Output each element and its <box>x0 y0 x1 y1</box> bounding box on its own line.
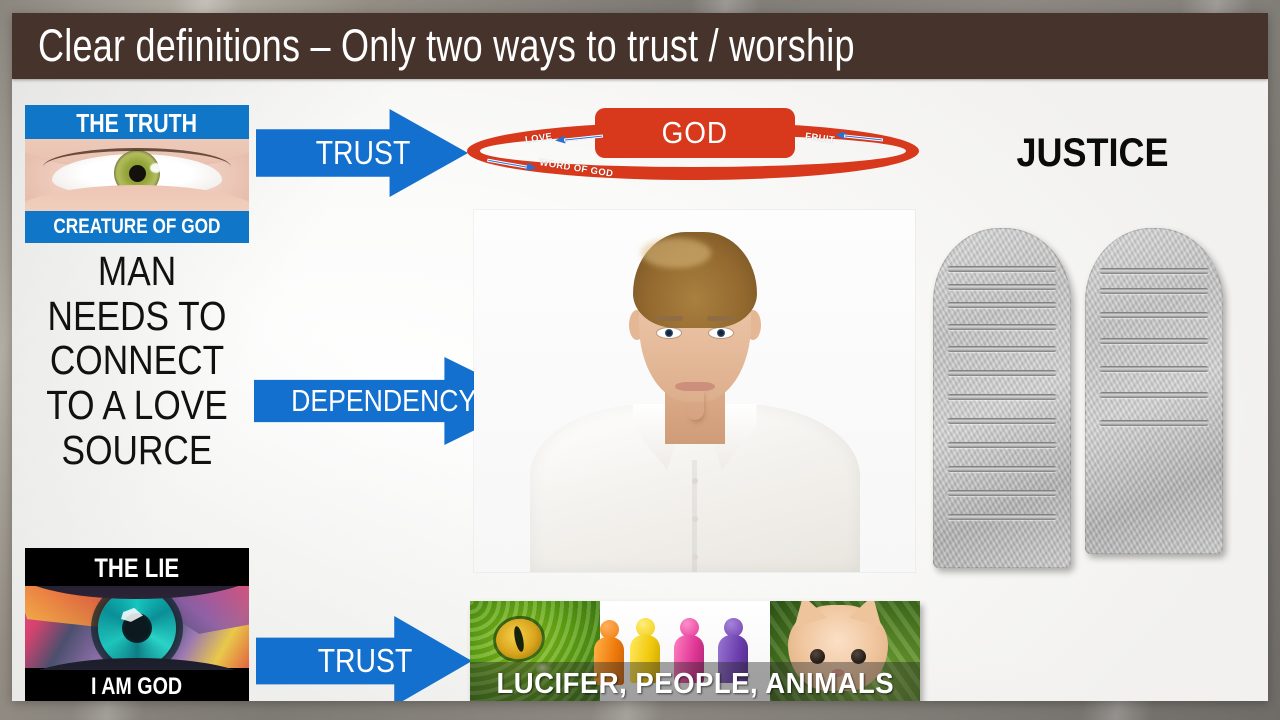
justice-label: JUSTICE <box>1016 131 1168 176</box>
slogan-line: CONNECT <box>41 338 234 383</box>
truth-top-band: THE TRUTH <box>25 105 249 141</box>
strip-caption: LUCIFER, PEOPLE, ANIMALS <box>470 662 920 701</box>
lie-bottom-label: I AM GOD <box>91 673 182 701</box>
slogan-text: MAN NEEDS TO CONNECT TO A LOVE SOURCE <box>25 249 249 472</box>
trust-arrow-bottom-label: TRUST <box>318 642 413 680</box>
slide-canvas: Clear definitions – Only two ways to tru… <box>12 13 1268 701</box>
slide-title: Clear definitions – Only two ways to tru… <box>38 20 855 72</box>
tablet-left <box>933 228 1071 568</box>
god-cycle-diagram: LOVE FRUIT WORD OF GOD GOD <box>467 108 927 188</box>
stone-tablets-image <box>933 228 1233 573</box>
truth-bottom-label: CREATURE OF GOD <box>53 215 220 239</box>
dependency-arrow-label: DEPENDENCY <box>291 383 476 419</box>
title-bar: Clear definitions – Only two ways to tru… <box>12 13 1268 79</box>
trust-arrow-top-label: TRUST <box>316 134 411 172</box>
strip-caption-label: LUCIFER, PEOPLE, ANIMALS <box>496 668 894 701</box>
god-box: GOD <box>595 108 795 158</box>
slogan-line: SOURCE <box>41 428 234 473</box>
slide-stage: Clear definitions – Only two ways to tru… <box>0 0 1280 720</box>
god-label: GOD <box>662 115 728 151</box>
lie-bottom-band: I AM GOD <box>25 668 249 701</box>
trust-arrow-top: TRUST <box>256 109 468 197</box>
lucifer-people-animals-strip: LUCIFER, PEOPLE, ANIMALS <box>470 601 920 701</box>
lie-top-label: THE LIE <box>95 553 180 584</box>
truth-top-label: THE TRUTH <box>77 108 198 139</box>
tablet-right <box>1085 228 1223 554</box>
lie-top-band: THE LIE <box>25 548 249 588</box>
polygonal-eye-icon <box>25 586 249 670</box>
truth-eye-card: THE TRUTH CREATURE OF GOD <box>25 105 249 243</box>
lie-eye-card: THE LIE I AM GOD <box>25 548 249 701</box>
trust-arrow-bottom: TRUST <box>256 616 472 701</box>
human-eye-icon <box>25 139 249 213</box>
slogan-line: TO A LOVE <box>41 383 234 428</box>
slogan-line: NEEDS TO <box>41 294 234 339</box>
slogan-line: MAN <box>41 249 234 294</box>
man-portrait-image <box>474 210 915 572</box>
justice-title: JUSTICE <box>952 131 1232 176</box>
truth-bottom-band: CREATURE OF GOD <box>25 211 249 243</box>
